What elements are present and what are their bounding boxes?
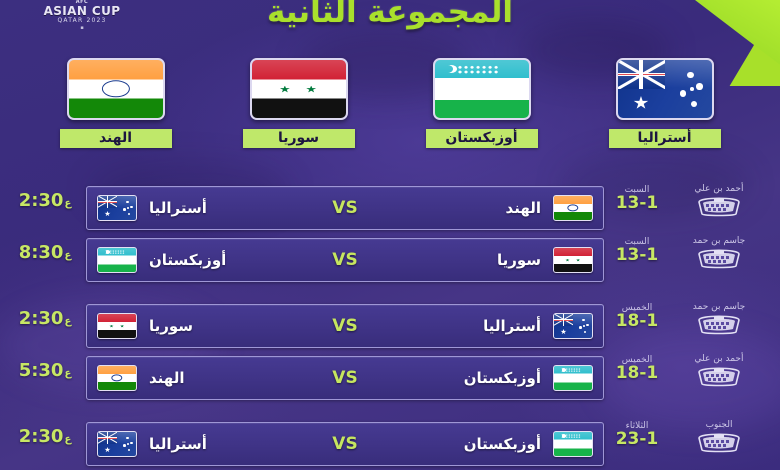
away-team-name: أوزبكستان — [149, 251, 226, 269]
match-date: الخميس18-1 — [606, 355, 668, 382]
team-flag-in — [67, 58, 165, 120]
away-flag-au — [97, 431, 137, 457]
home-team[interactable]: أوزبكستان — [377, 365, 603, 391]
match-day-month: 13-1 — [606, 195, 668, 212]
match-time-value: 2:30 — [19, 308, 64, 329]
stadium-name: جاسم بن حمد — [693, 302, 745, 312]
match-weekday: السبت — [606, 237, 668, 247]
home-flag-uz — [553, 431, 593, 457]
stadium-info: أحمد بن علي — [666, 354, 772, 400]
team-card[interactable]: الهند — [56, 58, 176, 148]
match-time: 2:30ع — [6, 426, 84, 447]
team-card[interactable]: سوريا — [239, 58, 359, 148]
home-team-name: أوزبكستان — [464, 435, 541, 453]
match-time: 2:30ع — [6, 190, 84, 211]
match-bar[interactable]: سورياVSأوزبكستان — [86, 238, 604, 282]
match-weekday: الثلاثاء — [606, 421, 668, 431]
match-time-value: 5:30 — [19, 360, 64, 381]
away-flag-sy — [97, 313, 137, 339]
home-flag-sy — [553, 247, 593, 273]
home-team[interactable]: سوريا — [377, 247, 603, 273]
away-team-name: الهند — [149, 369, 184, 387]
home-team[interactable]: أوزبكستان — [377, 431, 603, 457]
away-team[interactable]: أستراليا — [87, 431, 313, 457]
team-flag-uz — [433, 58, 531, 120]
team-name-label: أستراليا — [609, 129, 721, 148]
team-name-label: سوريا — [243, 129, 355, 148]
home-flag-in — [553, 195, 593, 221]
match-time-value: 2:30 — [19, 190, 64, 211]
team-name-label: الهند — [60, 129, 172, 148]
team-flag-sy — [250, 58, 348, 120]
away-team[interactable]: سوريا — [87, 313, 313, 339]
vs-label: VS — [313, 250, 377, 270]
away-flag-au — [97, 195, 137, 221]
match-bar[interactable]: أوزبكستانVSالهند — [86, 356, 604, 400]
away-team-name: أستراليا — [149, 435, 207, 453]
stadium-icon-wrap — [696, 365, 742, 391]
match-list: أحمد بن عليالسبت13-1الهندVSأستراليا2:30ع… — [0, 182, 780, 470]
stadium-icon-wrap — [696, 313, 742, 339]
group-fixtures-graphic: AFC ASIAN CUP QATAR 2023 ▪ المجموعة الثا… — [0, 0, 780, 470]
match-row[interactable]: أحمد بن عليالسبت13-1الهندVSأستراليا2:30ع — [0, 182, 780, 234]
group-teams-row: أسترالياأوزبكستانسورياالهند — [0, 58, 780, 154]
away-flag-in — [97, 365, 137, 391]
home-team-name: أستراليا — [483, 317, 541, 335]
stadium-info: الجنوب — [666, 420, 772, 466]
match-time-suffix: ع — [64, 250, 71, 261]
match-day-month: 23-1 — [606, 431, 668, 448]
home-team-name: أوزبكستان — [464, 369, 541, 387]
match-date: السبت13-1 — [606, 237, 668, 264]
stadium-icon — [696, 195, 742, 217]
match-date: الثلاثاء23-1 — [606, 421, 668, 448]
away-team[interactable]: أستراليا — [87, 195, 313, 221]
match-time-suffix: ع — [64, 316, 71, 327]
home-flag-uz — [553, 365, 593, 391]
stadium-icon-wrap — [696, 195, 742, 221]
stadium-name: أحمد بن علي — [695, 354, 744, 364]
stadium-icon-wrap — [696, 247, 742, 273]
page-title: المجموعة الثانية — [0, 0, 780, 30]
match-day-month: 13-1 — [606, 247, 668, 264]
stadium-name: أحمد بن علي — [695, 184, 744, 194]
match-row[interactable]: أحمد بن عليالخميس18-1أوزبكستانVSالهند5:3… — [0, 352, 780, 404]
away-team[interactable]: أوزبكستان — [87, 247, 313, 273]
match-time-value: 2:30 — [19, 426, 64, 447]
match-row[interactable]: جاسم بن حمدالخميس18-1أسترالياVSسوريا2:30… — [0, 300, 780, 352]
home-team-name: سوريا — [497, 251, 541, 269]
away-team-name: سوريا — [149, 317, 193, 335]
team-card[interactable]: أوزبكستان — [422, 58, 542, 148]
stadium-icon — [696, 431, 742, 453]
match-row[interactable]: جاسم بن حمدالسبت13-1سورياVSأوزبكستان8:30… — [0, 234, 780, 286]
stadium-info: جاسم بن حمد — [666, 302, 772, 348]
stadium-icon — [696, 313, 742, 335]
match-bar[interactable]: أوزبكستانVSأستراليا — [86, 422, 604, 466]
match-weekday: الخميس — [606, 303, 668, 313]
stadium-name: جاسم بن حمد — [693, 236, 745, 246]
team-card[interactable]: أستراليا — [605, 58, 725, 148]
team-flag-au — [616, 58, 714, 120]
away-flag-uz — [97, 247, 137, 273]
home-flag-au — [553, 313, 593, 339]
stadium-icon-wrap — [696, 431, 742, 457]
home-team[interactable]: الهند — [377, 195, 603, 221]
match-time-value: 8:30 — [19, 242, 64, 263]
vs-label: VS — [313, 434, 377, 454]
match-time-suffix: ع — [64, 434, 71, 445]
match-date: السبت13-1 — [606, 185, 668, 212]
match-time-suffix: ع — [64, 198, 71, 209]
team-name-label: أوزبكستان — [426, 129, 538, 148]
vs-label: VS — [313, 368, 377, 388]
match-bar[interactable]: الهندVSأستراليا — [86, 186, 604, 230]
away-team-name: أستراليا — [149, 199, 207, 217]
home-team[interactable]: أستراليا — [377, 313, 603, 339]
match-day-month: 18-1 — [606, 365, 668, 382]
match-bar[interactable]: أسترالياVSسوريا — [86, 304, 604, 348]
match-weekday: السبت — [606, 185, 668, 195]
stadium-info: أحمد بن علي — [666, 184, 772, 230]
stadium-icon — [696, 247, 742, 269]
home-team-name: الهند — [506, 199, 541, 217]
match-time: 2:30ع — [6, 308, 84, 329]
stadium-icon — [696, 365, 742, 387]
match-weekday: الخميس — [606, 355, 668, 365]
match-date: الخميس18-1 — [606, 303, 668, 330]
match-time: 5:30ع — [6, 360, 84, 381]
stadium-info: جاسم بن حمد — [666, 236, 772, 282]
match-time-suffix: ع — [64, 368, 71, 379]
vs-label: VS — [313, 316, 377, 336]
match-time: 8:30ع — [6, 242, 84, 263]
stadium-name: الجنوب — [706, 420, 733, 430]
match-row[interactable]: الجنوبالثلاثاء23-1أوزبكستانVSأستراليا2:3… — [0, 418, 780, 470]
match-day-month: 18-1 — [606, 313, 668, 330]
away-team[interactable]: الهند — [87, 365, 313, 391]
vs-label: VS — [313, 198, 377, 218]
